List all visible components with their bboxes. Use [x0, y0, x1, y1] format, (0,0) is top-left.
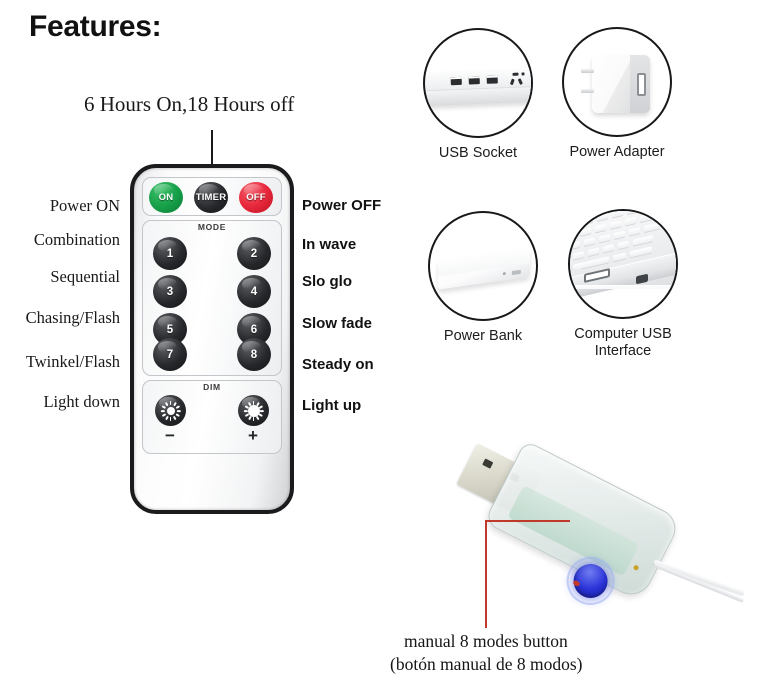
remote-key-7[interactable]: 7 — [153, 338, 187, 371]
label-left-combination: Combination — [0, 230, 120, 250]
power-option-usb-socket: USB Socket — [423, 28, 538, 162]
label-left-power-on: Power ON — [0, 196, 120, 216]
sun-large-icon — [243, 400, 264, 421]
usb-button-caption-line1: manual 8 modes button — [390, 630, 764, 653]
power-adapter-icon — [592, 55, 650, 113]
remote-key-8-label: 8 — [251, 349, 257, 361]
computer-usb-photo-circle — [568, 209, 678, 319]
label-left-light-down: Light down — [0, 392, 120, 412]
dim-minus-sign: − — [165, 427, 175, 444]
label-left-sequential: Sequential — [0, 267, 120, 287]
computer-usb-caption-line2: Interface — [595, 343, 651, 359]
power-bank-icon — [438, 246, 531, 289]
usb-socket-photo-circle — [423, 28, 533, 138]
remote-key-5-label: 5 — [167, 324, 173, 336]
usb-cable-second-strand — [654, 563, 745, 603]
timer-annotation-label: 6 Hours On,18 Hours off — [84, 92, 294, 117]
mode-key-panel: MODE 1 2 3 4 5 6 7 8 — [142, 220, 282, 376]
usb-button-caption: manual 8 modes button (botón manual de 8… — [390, 630, 764, 676]
dim-plus-sign: + — [248, 427, 258, 444]
power-key-panel: ON TIMER OFF — [142, 177, 282, 216]
remote-key-power-on[interactable]: ON — [149, 182, 183, 213]
remote-key-2[interactable]: 2 — [237, 237, 271, 270]
remote-key-1-label: 1 — [167, 248, 173, 260]
remote-key-timer-label: TIMER — [196, 192, 227, 203]
remote-key-timer[interactable]: TIMER — [194, 182, 228, 213]
laptop-edge-icon — [568, 209, 678, 289]
usb-solder-point — [633, 564, 640, 571]
label-right-slo-glo: Slo glo — [302, 273, 352, 290]
computer-usb-caption-line1: Computer USB — [574, 326, 672, 342]
power-bank-photo-circle — [428, 211, 538, 321]
infographic-canvas: Features: 6 Hours On,18 Hours off ON TIM… — [0, 0, 764, 698]
label-right-slow-fade: Slow fade — [302, 315, 372, 332]
callout-vertical-line — [485, 520, 487, 628]
usb-cable — [653, 560, 745, 596]
usb-socket-caption: USB Socket — [418, 145, 538, 162]
remote-key-light-up[interactable] — [238, 395, 269, 426]
power-option-computer-usb: Computer USB Interface — [568, 209, 683, 360]
power-option-power-adapter: Power Adapter — [562, 27, 677, 161]
power-option-power-bank: Power Bank — [428, 211, 543, 345]
remote-key-power-off-label: OFF — [246, 192, 266, 203]
callout-horizontal-line — [485, 520, 570, 522]
remote-key-8[interactable]: 8 — [237, 338, 271, 371]
remote-key-power-off[interactable]: OFF — [239, 182, 273, 213]
power-bank-caption: Power Bank — [423, 328, 543, 345]
remote-key-light-down[interactable] — [155, 395, 186, 426]
computer-usb-caption: Computer USB Interface — [563, 326, 683, 360]
remote-key-3[interactable]: 3 — [153, 275, 187, 308]
mode-panel-label: MODE — [143, 222, 281, 232]
label-left-chasing-flash: Chasing/Flash — [0, 308, 120, 328]
usb-socket-strip-icon — [426, 68, 533, 106]
usb-connector-photo — [455, 435, 755, 620]
label-right-light-up: Light up — [302, 397, 361, 414]
remote-key-4-label: 4 — [251, 286, 257, 298]
usb-button-caption-line2: (botón manual de 8 modos) — [390, 653, 764, 676]
dim-panel-label: DIM — [143, 382, 281, 392]
power-adapter-photo-circle — [562, 27, 672, 137]
label-right-steady-on: Steady on — [302, 356, 374, 373]
remote-key-1[interactable]: 1 — [153, 237, 187, 270]
dim-key-panel: DIM — [142, 380, 282, 454]
label-left-twinkel-flash: Twinkel/Flash — [0, 352, 120, 372]
remote-key-2-label: 2 — [251, 248, 257, 260]
label-right-in-wave: In wave — [302, 236, 356, 253]
remote-control: ON TIMER OFF MODE 1 2 3 4 — [130, 164, 294, 514]
remote-key-6-label: 6 — [251, 324, 257, 336]
remote-key-7-label: 7 — [167, 349, 173, 361]
laptop-small-port-icon — [636, 274, 648, 285]
page-title: Features: — [29, 10, 161, 44]
power-adapter-caption: Power Adapter — [557, 144, 677, 161]
sun-small-icon — [160, 400, 181, 421]
remote-key-power-on-label: ON — [159, 192, 174, 203]
remote-key-4[interactable]: 4 — [237, 275, 271, 308]
label-right-power-off: Power OFF — [302, 197, 381, 214]
remote-key-3-label: 3 — [167, 286, 173, 298]
